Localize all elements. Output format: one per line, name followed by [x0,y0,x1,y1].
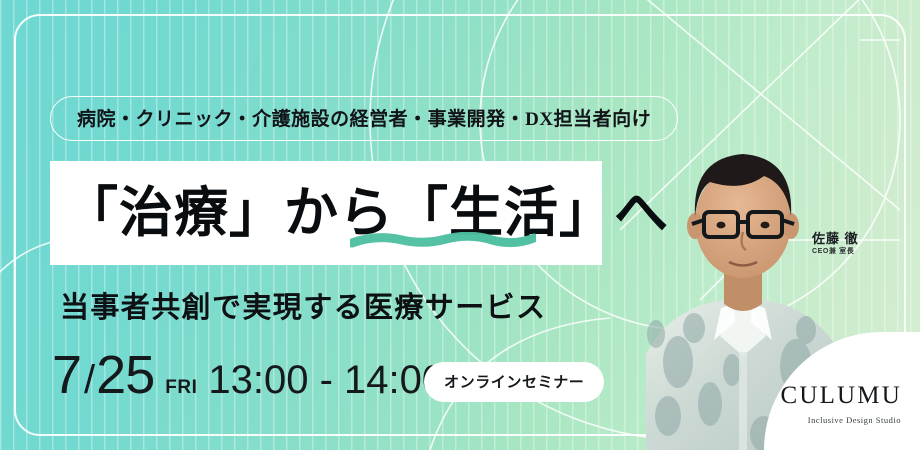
page-subtitle: 当事者共創で実現する医療サービス [60,284,546,326]
page-title: 「治療」から「生活」へ [64,186,669,240]
event-month: 7 [52,348,81,402]
logo-tagline: Inclusive Design Studio [808,415,901,425]
date-separator: / [84,360,95,400]
speaker-name: 佐藤 徹 [812,228,859,247]
event-day: 25 [96,348,154,402]
culumu-logo: CULUMU [780,382,902,410]
speaker-role: CEO兼 室長 [812,246,854,256]
event-time-range: 13:00 - 14:00 [208,360,444,400]
target-audience-pill: 病院・クリニック・介護施設の経営者・事業開発・DX担当者向け [50,96,678,141]
event-weekday: FRI [165,378,197,397]
headline-panel: 「治療」から「生活」へ [50,161,602,265]
seminar-banner: 病院・クリニック・介護施設の経営者・事業開発・DX担当者向け 「治療」から「生活… [0,0,920,450]
event-datetime: 7 / 25 FRI 13:00 - 14:00 [52,348,444,402]
online-seminar-badge: オンラインセミナー [424,362,604,402]
